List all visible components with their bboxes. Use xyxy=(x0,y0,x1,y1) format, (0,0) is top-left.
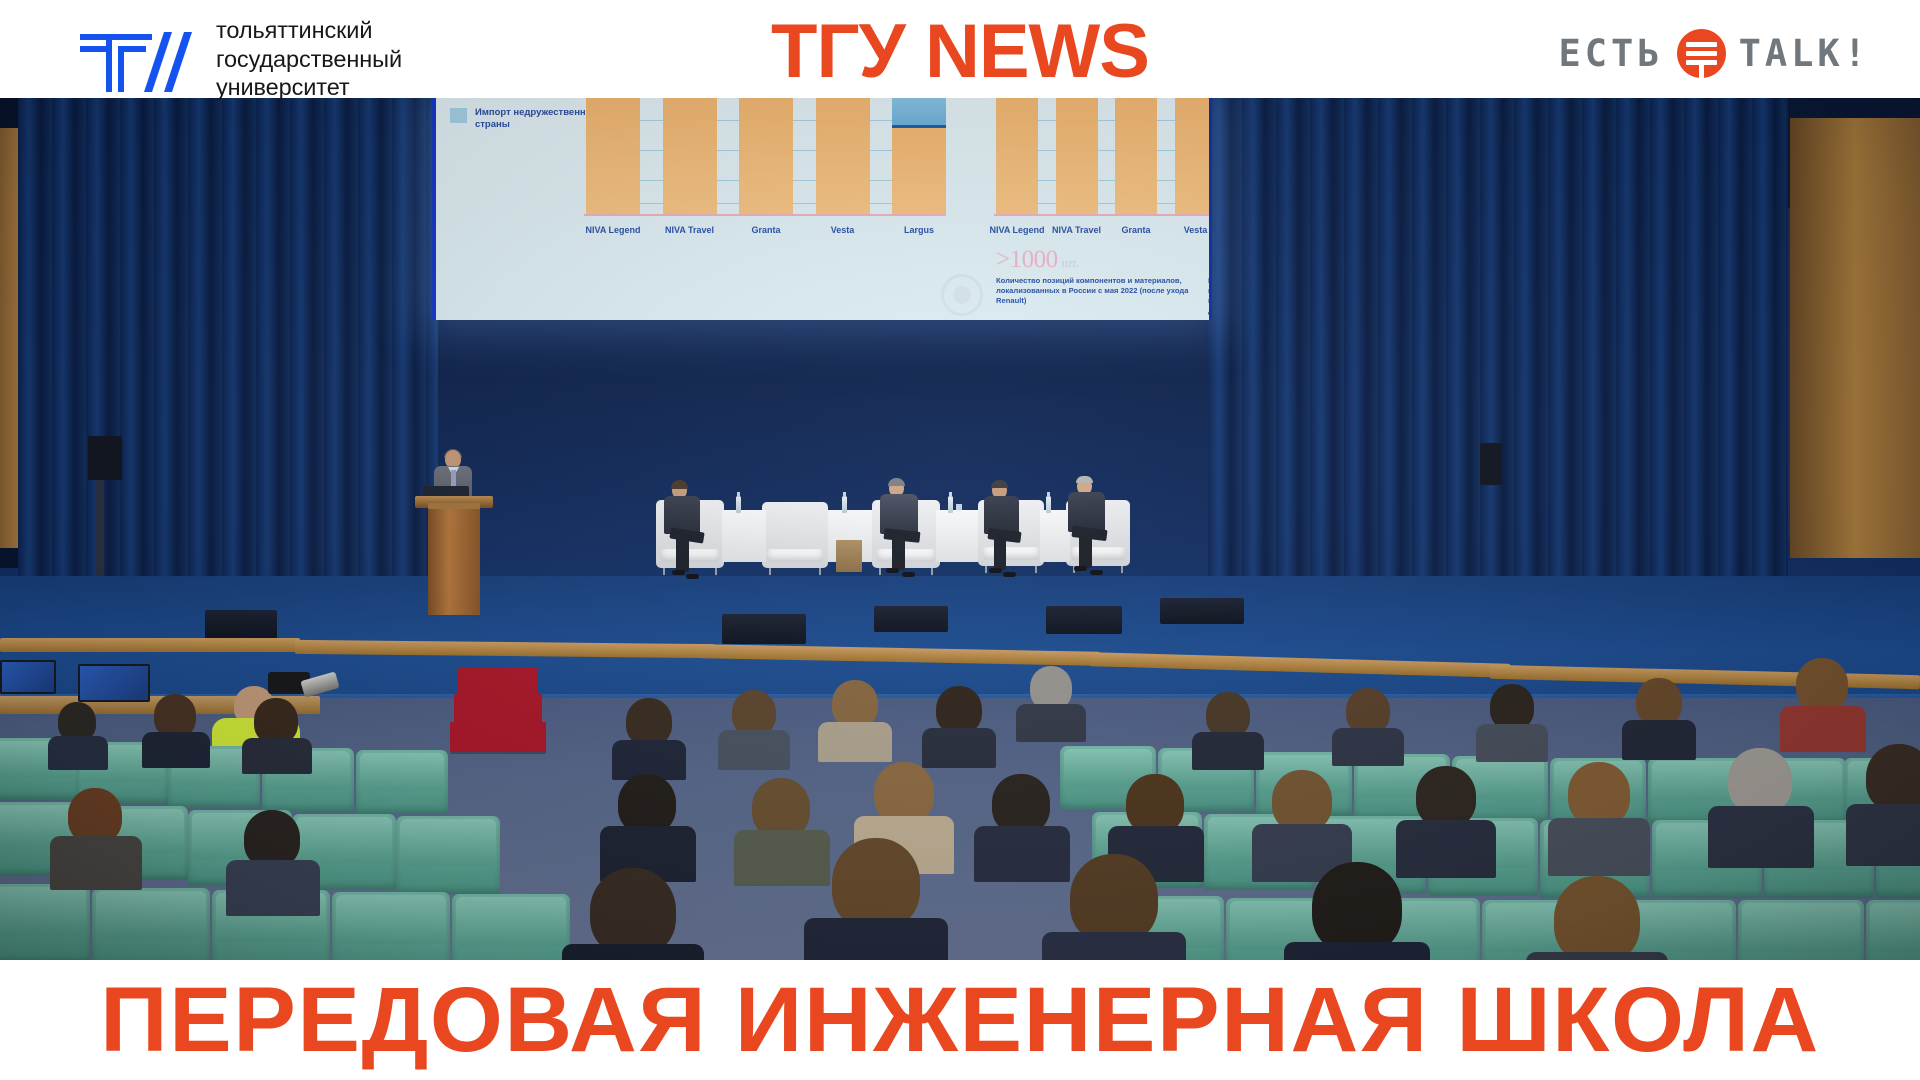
panelist xyxy=(876,480,938,586)
stat-block: 300шт. Количество позиций компонентов и … xyxy=(1208,246,1212,316)
audience-member xyxy=(1058,854,1170,960)
balcony-rail xyxy=(0,638,300,652)
stage-monitor xyxy=(205,610,277,640)
bar-label: Vesta xyxy=(831,225,855,235)
bar-label: Largus xyxy=(904,225,934,235)
stage-speaker-left xyxy=(88,436,122,480)
audience-member xyxy=(1630,678,1688,744)
audience-member xyxy=(726,690,782,754)
stat-block: >1000шт. Количество позиций компонентов … xyxy=(996,246,1192,316)
audience-member xyxy=(610,774,684,870)
panelist xyxy=(660,482,720,586)
audience-member xyxy=(248,698,304,760)
slide-stats: >1000шт. Количество позиций компонентов … xyxy=(996,246,1212,316)
audience-member xyxy=(1542,876,1652,960)
water-bottle xyxy=(842,496,847,513)
audience-member xyxy=(744,778,818,874)
armchair xyxy=(762,502,828,568)
panelist xyxy=(980,482,1038,584)
side-table xyxy=(722,510,766,562)
audience-member xyxy=(1024,666,1078,728)
audience-member xyxy=(1340,688,1396,752)
water-bottle xyxy=(1046,496,1051,513)
audience-member xyxy=(820,838,932,960)
stat-description: Количество позиций компонентов и материа… xyxy=(996,276,1192,306)
audience-seat xyxy=(92,888,210,960)
x-axis-line xyxy=(584,214,946,216)
speaker-stand-left xyxy=(96,480,104,576)
footer-bar: ПЕРЕДОВАЯ ИНЖЕНЕРНАЯ ШКОЛА xyxy=(0,960,1920,1080)
water-bottle xyxy=(736,496,741,513)
audience-member xyxy=(1560,762,1638,862)
audience-member xyxy=(826,680,884,746)
audience-member xyxy=(1790,658,1856,734)
audience-seat xyxy=(356,750,448,814)
legend-swatch-icon xyxy=(450,108,467,123)
presentation-slide: Импорт недружественные страны NIVA Legen… xyxy=(436,98,1209,320)
audience-member xyxy=(148,694,202,756)
water-glass xyxy=(956,504,962,512)
headline-caption: ПЕРЕДОВАЯ ИНЖЕНЕРНАЯ ШКОЛА xyxy=(100,968,1820,1073)
stat-unit: шт. xyxy=(1062,255,1078,270)
bar-label: NIVA Travel xyxy=(665,225,714,235)
audience-member xyxy=(1720,748,1800,852)
stat-value: >1000шт. xyxy=(996,246,1192,274)
audience-member xyxy=(1200,692,1256,756)
wood-panel-right xyxy=(1790,118,1920,558)
audience-member xyxy=(52,702,102,760)
stage-monitor xyxy=(722,614,806,644)
bar-label: NIVA Legend xyxy=(585,225,640,235)
conference-photo: Импорт недружественные страны NIVA Legen… xyxy=(0,98,1920,960)
est-talk-word-left: ЕСТЬ xyxy=(1559,32,1664,75)
stage-monitor xyxy=(1160,598,1244,624)
audience-seat xyxy=(452,894,570,960)
bar-label: Granta xyxy=(751,225,780,235)
water-bottle xyxy=(948,496,953,513)
est-talk-logo: ЕСТЬ TALK! xyxy=(1559,29,1871,78)
stage-stairs-top xyxy=(458,668,538,694)
bar-label: Granta xyxy=(1121,225,1150,235)
podium xyxy=(428,503,480,615)
broadcast-frame: тольяттинский государственный университе… xyxy=(0,0,1920,1080)
audience-member xyxy=(1484,684,1540,748)
paper-bag xyxy=(836,540,862,572)
stage-speaker-right xyxy=(1480,443,1502,485)
audience-member xyxy=(620,698,678,764)
audience-member xyxy=(1408,766,1484,864)
laptop xyxy=(78,664,150,702)
left-bar-chart: NIVA Legend NIVA Travel Granta Vest xyxy=(586,98,946,238)
bar-label: NIVA Travel xyxy=(1052,225,1101,235)
stat-description: Количество позиций компонентов и материа… xyxy=(1208,276,1212,316)
stat-value: 300шт. xyxy=(1208,246,1212,274)
audience-member xyxy=(1300,862,1414,960)
audience-seat xyxy=(396,816,500,894)
header-bar: тольяттинский государственный университе… xyxy=(0,0,1920,98)
stage-monitor xyxy=(874,606,948,632)
stat-number: 300 xyxy=(1208,246,1212,273)
projection-screen: Импорт недружественные страны NIVA Legen… xyxy=(432,98,1212,320)
audience-seat xyxy=(332,892,450,960)
x-axis-line xyxy=(994,214,1212,216)
stage-stairs-mid xyxy=(454,694,542,722)
audience-member xyxy=(984,774,1058,870)
audience-member xyxy=(1264,770,1340,868)
audience-seat xyxy=(0,884,90,960)
audience-member xyxy=(60,788,130,878)
audience-member xyxy=(236,810,308,906)
stage-monitor xyxy=(1046,606,1122,634)
est-talk-badge-icon xyxy=(1677,29,1726,78)
audience-member xyxy=(930,686,988,752)
slide-emblem-icon xyxy=(941,274,983,316)
audience-member xyxy=(1858,744,1920,850)
laptop xyxy=(0,660,56,694)
bar-label: Vesta xyxy=(1184,225,1208,235)
audience-member xyxy=(578,868,688,960)
bar-label: NIVA Legend xyxy=(989,225,1044,235)
panelist xyxy=(1064,478,1124,584)
stat-number: >1000 xyxy=(996,246,1058,273)
est-talk-word-right: TALK! xyxy=(1739,32,1870,75)
side-table xyxy=(936,510,978,562)
audience-seat xyxy=(1866,900,1920,960)
audience-seat xyxy=(1738,900,1864,960)
stage-stairs-bottom xyxy=(450,722,546,752)
right-bar-chart: NIVA Legend NIVA Travel Granta Vest xyxy=(996,98,1212,238)
